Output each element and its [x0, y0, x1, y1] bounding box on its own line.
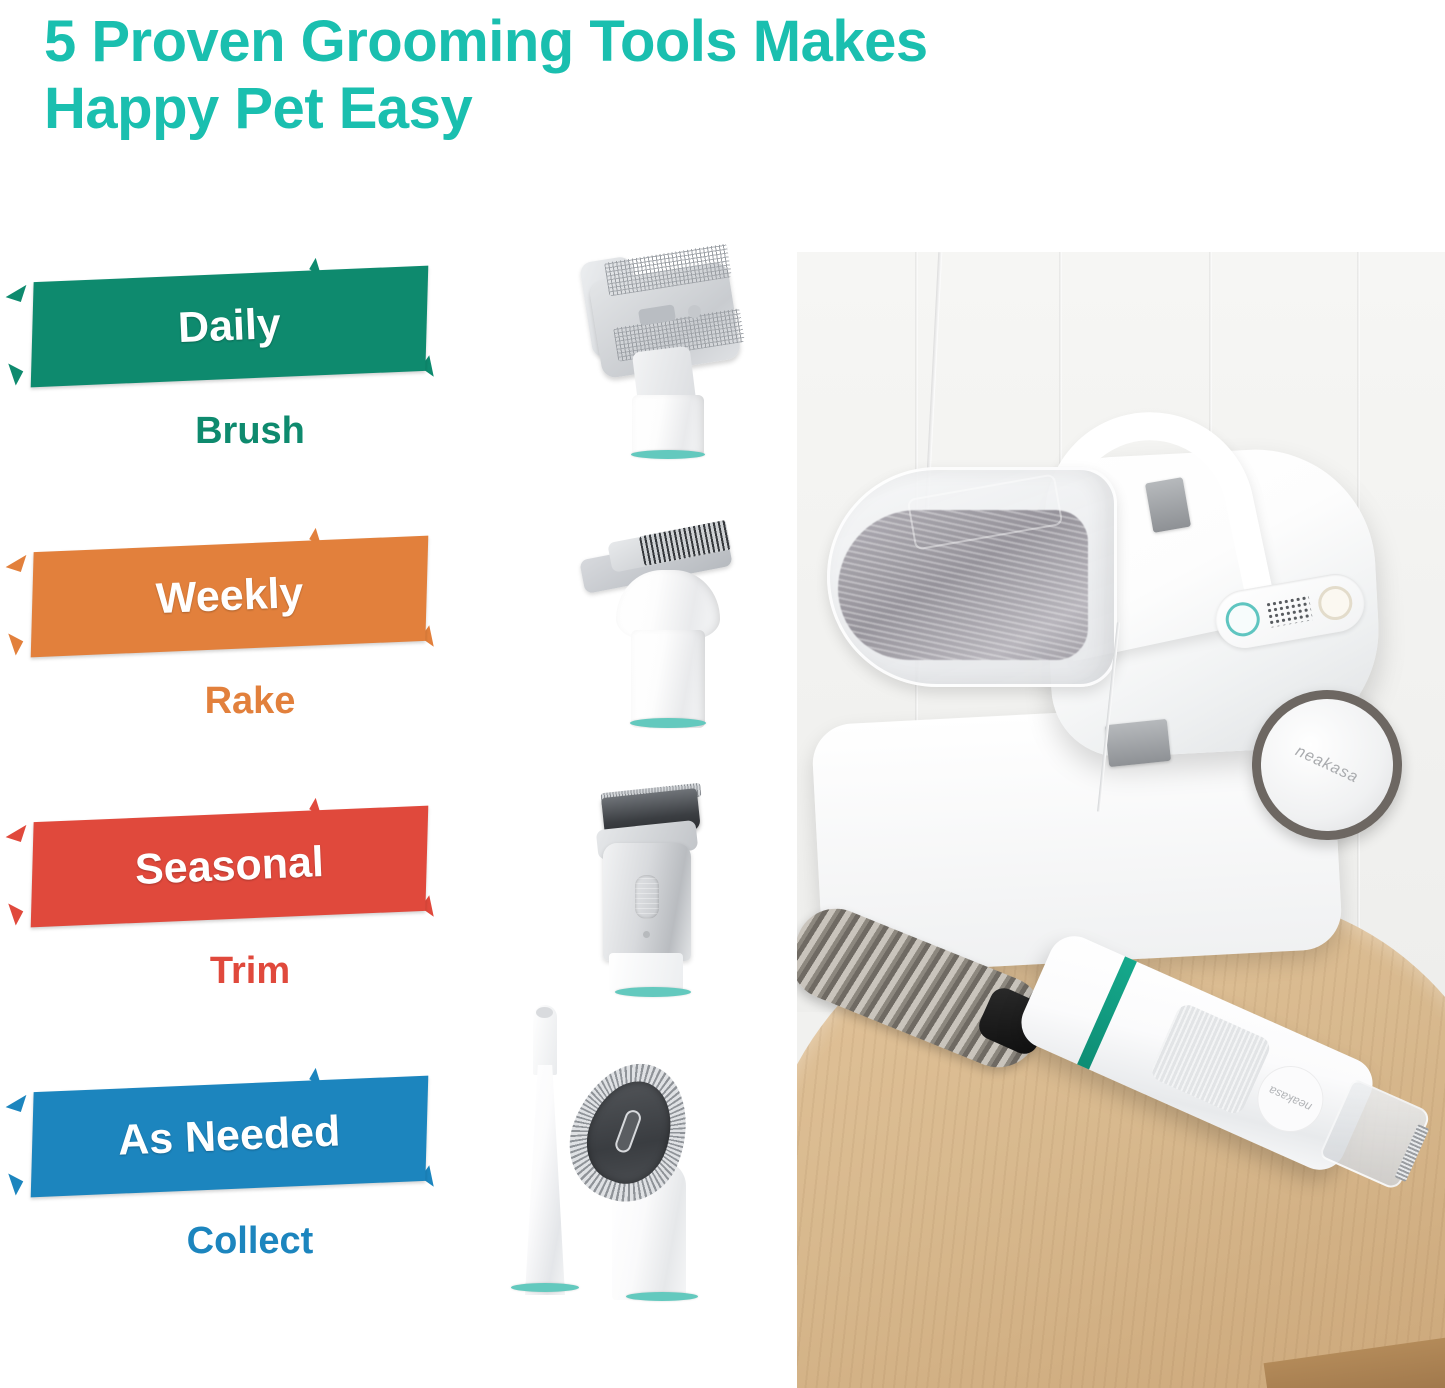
clipper-indicator-icon	[643, 931, 650, 938]
wand-grip	[1148, 1001, 1273, 1117]
wand-teal-ring	[1077, 956, 1137, 1069]
banner-weekly: Weekly	[0, 528, 470, 658]
teal-base-ring	[631, 450, 705, 459]
spark-accent-icon	[6, 820, 27, 842]
brand-logo-text: neakasa	[1293, 743, 1362, 788]
schedule-item-as-needed: As Needed Collect	[0, 1068, 500, 1198]
infographic-page: 5 Proven Grooming Tools Makes Happy Pet …	[0, 0, 1445, 1388]
tool-image-rake-attachment	[573, 518, 763, 730]
tool-image-brush-attachment	[573, 245, 763, 460]
teal-base-ring	[626, 1292, 698, 1301]
schedule-item-seasonal: Seasonal Trim	[0, 798, 500, 928]
banner-seasonal: Seasonal	[0, 798, 470, 928]
frequency-label: Weekly	[155, 569, 304, 624]
photo-dust-cup	[827, 467, 1117, 687]
spark-accent-icon	[6, 550, 27, 572]
tool-image-clipper-attachment	[573, 785, 763, 1010]
spark-accent-icon	[1, 633, 24, 655]
spark-accent-icon	[1, 903, 24, 925]
action-label: Brush	[60, 410, 440, 453]
page-title: 5 Proven Grooming Tools Makes Happy Pet …	[44, 8, 1224, 143]
action-label: Rake	[60, 680, 440, 723]
frequency-label: Daily	[177, 300, 282, 353]
frequency-banner: As Needed	[31, 1076, 429, 1198]
vent-grid-icon	[1265, 595, 1313, 628]
spark-accent-icon	[6, 1090, 27, 1112]
schedule-item-daily: Daily Brush	[0, 258, 500, 388]
clipper-switch	[635, 875, 659, 919]
spark-accent-icon	[6, 280, 27, 302]
banner-daily: Daily	[0, 258, 470, 388]
frequency-banner: Seasonal	[31, 806, 429, 928]
attachment-barrel	[631, 630, 705, 728]
mode-button-icon	[1223, 600, 1262, 639]
tool-image-cleaning-brush	[558, 1060, 738, 1300]
photo-latch	[1105, 719, 1171, 767]
page-title-line-1: 5 Proven Grooming Tools Makes	[44, 8, 1224, 75]
nozzle-opening	[536, 1007, 553, 1018]
attachment-barrel	[632, 395, 704, 457]
wand-brand-text: neakasa	[1267, 1083, 1314, 1114]
frequency-label: As Needed	[117, 1107, 341, 1165]
frequency-banner: Weekly	[31, 536, 429, 658]
schedule-item-weekly: Weekly Rake	[0, 528, 500, 658]
action-label: Collect	[60, 1220, 440, 1263]
teal-base-ring	[630, 718, 706, 728]
page-title-line-2: Happy Pet Easy	[44, 75, 1224, 142]
frequency-label: Seasonal	[134, 838, 325, 895]
power-button-icon	[1316, 583, 1355, 622]
frequency-banner: Daily	[31, 266, 429, 388]
teal-base-ring	[615, 987, 691, 997]
action-label: Trim	[60, 950, 440, 993]
spark-accent-icon	[1, 1173, 24, 1195]
banner-as-needed: As Needed	[0, 1068, 470, 1198]
spark-accent-icon	[1, 363, 24, 385]
brush-dot	[688, 305, 701, 318]
product-photo: neakasa neakasa	[797, 252, 1445, 1388]
